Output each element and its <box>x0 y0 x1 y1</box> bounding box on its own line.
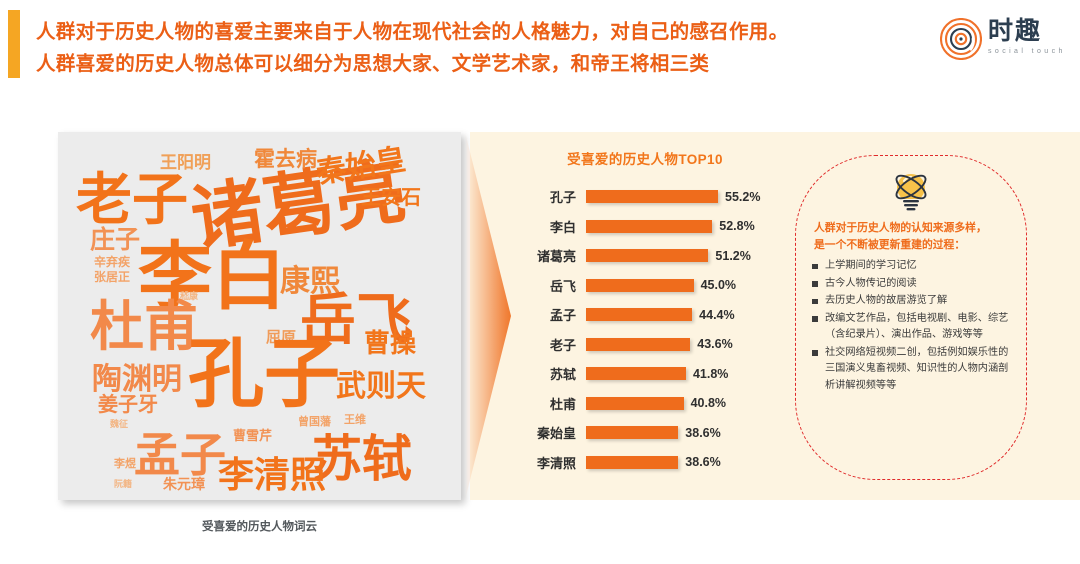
wordcloud-word: 孔子 <box>188 337 340 413</box>
bar-track: 43.6% <box>586 330 790 360</box>
wordcloud-caption: 受喜爱的历史人物词云 <box>58 518 461 534</box>
wordcloud-word: 朱元璋 <box>163 477 205 491</box>
wordcloud-word: 曾国藩 <box>298 417 331 428</box>
wordcloud-word: 阮籍 <box>114 480 132 489</box>
insight-heading: 人群对于历史人物的认知来源多样， 是一个不断被更新重建的过程： <box>810 220 1012 254</box>
bar-track: 44.4% <box>586 300 790 330</box>
slide-root: 人群对于历史人物的喜爱主要来自于人物在现代社会的人格魅力，对自己的感召作用。 人… <box>0 0 1080 564</box>
bar-category-label: 老子 <box>500 335 586 354</box>
bar-fill <box>586 338 690 351</box>
insight-list-item: 社交网络短视频二创，包括例如娱乐性的三国演义鬼畜视频、知识性的人物内涵剖析讲解视… <box>810 345 1012 395</box>
insight-list-item: 古今人物传记的阅读 <box>810 276 1012 293</box>
bar-row: 诸葛亮51.2% <box>500 241 790 271</box>
insight-list-item: 去历史人物的故居游览了解 <box>810 293 1012 310</box>
bar-track: 40.8% <box>586 389 790 419</box>
bar-value-label: 55.2% <box>725 190 760 204</box>
bar-category-label: 秦始皇 <box>500 423 586 442</box>
wordcloud-word: 王维 <box>344 415 366 426</box>
bullet-square-icon <box>812 281 818 287</box>
logo-brand-cn: 时趣 <box>988 16 1066 46</box>
insight-heading-line-1: 人群对于历史人物的认知来源多样， <box>814 220 1012 237</box>
bar-fill <box>586 456 678 469</box>
bullet-square-icon <box>812 350 818 356</box>
bar-fill <box>586 190 718 203</box>
chart-title: 受喜爱的历史人物TOP10 <box>500 148 790 168</box>
wordcloud-word: 王阳明 <box>160 154 211 171</box>
insight-box: 人群对于历史人物的认知来源多样， 是一个不断被更新重建的过程： 上学期间的学习记… <box>795 155 1027 480</box>
bar-category-label: 诸葛亮 <box>500 246 586 265</box>
bar-category-label: 岳飞 <box>500 276 586 295</box>
bar-fill <box>586 426 678 439</box>
bar-row: 李白52.8% <box>500 212 790 242</box>
bar-fill <box>586 279 694 292</box>
insight-item-text: 社交网络短视频二创，包括例如娱乐性的三国演义鬼畜视频、知识性的人物内涵剖析讲解视… <box>825 347 1008 391</box>
wordcloud-word: 老子 <box>76 172 188 228</box>
bar-fill <box>586 220 712 233</box>
bar-track: 45.0% <box>586 271 790 301</box>
wordcloud-word: 李清照 <box>218 457 326 493</box>
bar-category-label: 李清照 <box>500 453 586 472</box>
wordcloud-word: 曹雪芹 <box>233 429 272 442</box>
insight-heading-line-2: 是一个不断被更新重建的过程： <box>814 237 1012 254</box>
bar-category-label: 杜甫 <box>500 394 586 413</box>
bar-track: 38.6% <box>586 448 790 478</box>
wordcloud-word: 曹操 <box>364 330 416 356</box>
bar-row: 孟子44.4% <box>500 300 790 330</box>
bullet-square-icon <box>812 264 818 270</box>
wordcloud-word: 姜子牙 <box>98 395 158 415</box>
wordcloud-word: 陶渊明 <box>92 365 182 395</box>
wordcloud-word: 孟子 <box>134 432 226 478</box>
wordcloud-word: 庄子 <box>90 228 140 253</box>
wordcloud-word: 辛弃疾 <box>94 256 130 268</box>
top10-bar-chart: 受喜爱的历史人物TOP10 孔子55.2%李白52.8%诸葛亮51.2%岳飞45… <box>500 148 790 488</box>
bar-track: 55.2% <box>586 182 790 212</box>
wordcloud-word: 霍去病 <box>254 149 317 170</box>
wordcloud-word: 苏轼 <box>312 434 412 484</box>
bar-row: 岳飞45.0% <box>500 271 790 301</box>
lightbulb-icon <box>888 168 934 214</box>
bar-category-label: 苏轼 <box>500 364 586 383</box>
wordcloud-word: 张居正 <box>94 271 130 283</box>
bar-fill <box>586 397 684 410</box>
chart-bars: 孔子55.2%李白52.8%诸葛亮51.2%岳飞45.0%孟子44.4%老子43… <box>500 182 790 477</box>
insight-item-text: 改编文艺作品，包括电视剧、电影、综艺（含纪录片）、演出作品、游戏等等 <box>825 313 1008 341</box>
header-accent-bar <box>8 10 20 78</box>
bar-value-label: 51.2% <box>715 249 750 263</box>
insight-list-item: 上学期间的学习记忆 <box>810 258 1012 275</box>
bullet-square-icon <box>812 299 818 305</box>
bar-row: 秦始皇38.6% <box>500 418 790 448</box>
bar-row: 老子43.6% <box>500 330 790 360</box>
wordcloud-word: 魏征 <box>110 420 128 429</box>
wordcloud-word: 王安石 <box>361 188 421 208</box>
bar-value-label: 40.8% <box>691 396 726 410</box>
bar-row: 孔子55.2% <box>500 182 790 212</box>
insight-item-text: 古今人物传记的阅读 <box>825 278 917 289</box>
bar-value-label: 38.6% <box>685 426 720 440</box>
bar-track: 51.2% <box>586 241 790 271</box>
bar-row: 李清照38.6% <box>500 448 790 478</box>
insight-item-text: 上学期间的学习记忆 <box>825 260 917 271</box>
bar-track: 38.6% <box>586 418 790 448</box>
insight-item-text: 去历史人物的故居游览了解 <box>825 295 947 306</box>
wordcloud-word: 杜甫 <box>90 300 198 354</box>
bar-fill <box>586 308 692 321</box>
spiral-icon <box>940 18 982 60</box>
logo-brand-en: social touch <box>988 48 1066 55</box>
bar-fill <box>586 249 708 262</box>
headline-line-1: 人群对于历史人物的喜爱主要来自于人物在现代社会的人格魅力，对自己的感召作用。 <box>36 16 936 48</box>
bar-track: 41.8% <box>586 359 790 389</box>
headline-line-2: 人群喜爱的历史人物总体可以细分为思想大家、文学艺术家，和帝王将相三类 <box>36 48 936 80</box>
bar-value-label: 43.6% <box>697 337 732 351</box>
bar-value-label: 52.8% <box>719 219 754 233</box>
bar-row: 杜甫40.8% <box>500 389 790 419</box>
brand-logo: 时趣 social touch <box>940 14 1066 70</box>
bar-value-label: 44.4% <box>699 308 734 322</box>
wordcloud-word: 武则天 <box>336 372 426 402</box>
bar-value-label: 45.0% <box>701 278 736 292</box>
bar-category-label: 孟子 <box>500 305 586 324</box>
insight-list: 上学期间的学习记忆古今人物传记的阅读去历史人物的故居游览了解改编文艺作品，包括电… <box>810 258 1012 394</box>
bar-track: 52.8% <box>586 212 790 242</box>
bar-row: 苏轼41.8% <box>500 359 790 389</box>
bar-value-label: 38.6% <box>685 455 720 469</box>
bullet-square-icon <box>812 316 818 322</box>
page-title: 人群对于历史人物的喜爱主要来自于人物在现代社会的人格魅力，对自己的感召作用。 人… <box>36 16 936 80</box>
bar-category-label: 李白 <box>500 217 586 236</box>
wordcloud-word: 李煜 <box>114 459 136 470</box>
insight-list-item: 改编文艺作品，包括电视剧、电影、综艺（含纪录片）、演出作品、游戏等等 <box>810 311 1012 344</box>
bar-value-label: 41.8% <box>693 367 728 381</box>
bar-category-label: 孔子 <box>500 187 586 206</box>
bar-fill <box>586 367 686 380</box>
wordcloud-panel: 老子诸葛亮王阳明霍去病秦始皇王安石庄子李白康熙辛弃疾张居正嵇康杜甫岳飞屈原曹操孔… <box>58 132 461 500</box>
